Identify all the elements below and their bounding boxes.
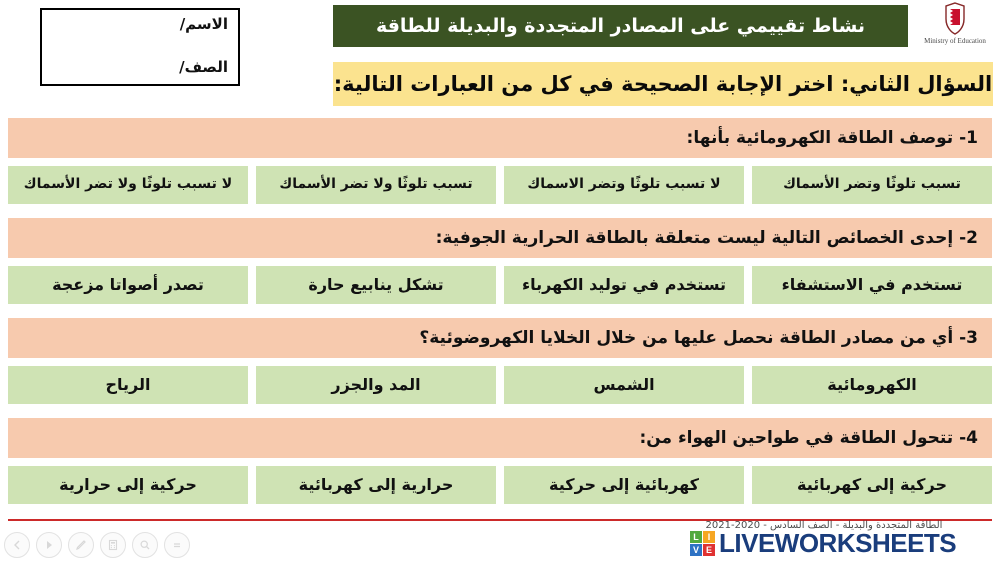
liveworksheets-logo-icon: L I V E xyxy=(690,531,715,556)
options-row-1: تسبب تلوثًا وتضر الأسماك لا تسبب تلوثًا … xyxy=(8,166,992,204)
option-2-3[interactable]: تشكل ينابيع حارة xyxy=(256,266,496,304)
instruction-bar: السؤال الثاني: اختر الإجابة الصحيحة في ك… xyxy=(333,62,993,106)
options-row-2: تستخدم في الاستشفاء تستخدم في توليد الكه… xyxy=(8,266,992,304)
question-prompt-3: 3- أي من مصادر الطاقة نحصل عليها من خلال… xyxy=(8,318,992,358)
back-arrow-icon[interactable] xyxy=(4,532,30,558)
question-block-1: 1- توصف الطاقة الكهرومائية بأنها: تسبب ت… xyxy=(8,118,992,204)
option-3-1[interactable]: الكهرومائية xyxy=(752,366,992,404)
logo-letter-i: I xyxy=(703,531,715,543)
option-3-3[interactable]: المد والجزر xyxy=(256,366,496,404)
question-text: 4- تتحول الطاقة في طواحين الهواء من: xyxy=(8,428,978,448)
ministry-name-en: Ministry of Education xyxy=(924,37,986,45)
question-block-3: 3- أي من مصادر الطاقة نحصل عليها من خلال… xyxy=(8,318,992,404)
option-1-4[interactable]: لا تسبب تلوثًا ولا تضر الأسماك xyxy=(8,166,248,204)
option-3-2[interactable]: الشمس xyxy=(504,366,744,404)
question-prompt-1: 1- توصف الطاقة الكهرومائية بأنها: xyxy=(8,118,992,158)
logo-letter-l: L xyxy=(690,531,702,543)
search-icon[interactable] xyxy=(132,532,158,558)
option-2-2[interactable]: تستخدم في توليد الكهرباء xyxy=(504,266,744,304)
name-label: الاسم/ xyxy=(42,16,228,33)
calculator-icon[interactable] xyxy=(100,532,126,558)
question-text: 1- توصف الطاقة الكهرومائية بأنها: xyxy=(8,128,978,148)
liveworksheets-watermark: L I V E LIVEWORKSHEETS xyxy=(690,528,990,558)
option-2-1[interactable]: تستخدم في الاستشفاء xyxy=(752,266,992,304)
class-label: الصف/ xyxy=(42,59,228,76)
liveworksheets-wordmark: LIVEWORKSHEETS xyxy=(719,528,956,559)
option-1-2[interactable]: لا تسبب تلوثًا وتضر الاسماك xyxy=(504,166,744,204)
question-prompt-2: 2- إحدى الخصائص التالية ليست متعلقة بالط… xyxy=(8,218,992,258)
pen-icon[interactable] xyxy=(68,532,94,558)
option-1-3[interactable]: تسبب تلوثًا ولا تضر الأسماك xyxy=(256,166,496,204)
question-prompt-4: 4- تتحول الطاقة في طواحين الهواء من: xyxy=(8,418,992,458)
ministry-logo: Ministry of Education xyxy=(912,2,998,56)
logo-letter-e: E xyxy=(703,544,715,556)
question-block-2: 2- إحدى الخصائص التالية ليست متعلقة بالط… xyxy=(8,218,992,304)
option-4-1[interactable]: حركية إلى كهربائية xyxy=(752,466,992,504)
options-row-4: حركية إلى كهربائية كهربائية إلى حركية حر… xyxy=(8,466,992,504)
option-4-4[interactable]: حركية إلى حرارية xyxy=(8,466,248,504)
option-3-4[interactable]: الرياح xyxy=(8,366,248,404)
option-4-2[interactable]: كهربائية إلى حركية xyxy=(504,466,744,504)
question-text: 3- أي من مصادر الطاقة نحصل عليها من خلال… xyxy=(8,328,978,348)
worksheet-header: الاسم/ الصف/ نشاط تقييمي على المصادر الم… xyxy=(0,0,1000,52)
options-row-3: الكهرومائية الشمس المد والجزر الرياح xyxy=(8,366,992,404)
logo-letter-v: V xyxy=(690,544,702,556)
option-2-4[interactable]: تصدر أصواتا مزعجة xyxy=(8,266,248,304)
bahrain-crest-icon xyxy=(940,2,970,36)
question-text: 2- إحدى الخصائص التالية ليست متعلقة بالط… xyxy=(8,228,978,248)
student-info-box: الاسم/ الصف/ xyxy=(40,8,240,86)
play-icon[interactable] xyxy=(36,532,62,558)
question-block-4: 4- تتحول الطاقة في طواحين الهواء من: حرك… xyxy=(8,418,992,504)
option-1-1[interactable]: تسبب تلوثًا وتضر الأسماك xyxy=(752,166,992,204)
bottom-toolbar xyxy=(4,532,190,558)
menu-icon[interactable] xyxy=(164,532,190,558)
worksheet-page: الاسم/ الصف/ نشاط تقييمي على المصادر الم… xyxy=(0,0,1000,562)
option-4-3[interactable]: حرارية إلى كهربائية xyxy=(256,466,496,504)
page-title: نشاط تقييمي على المصادر المتجددة والبديل… xyxy=(333,5,908,47)
